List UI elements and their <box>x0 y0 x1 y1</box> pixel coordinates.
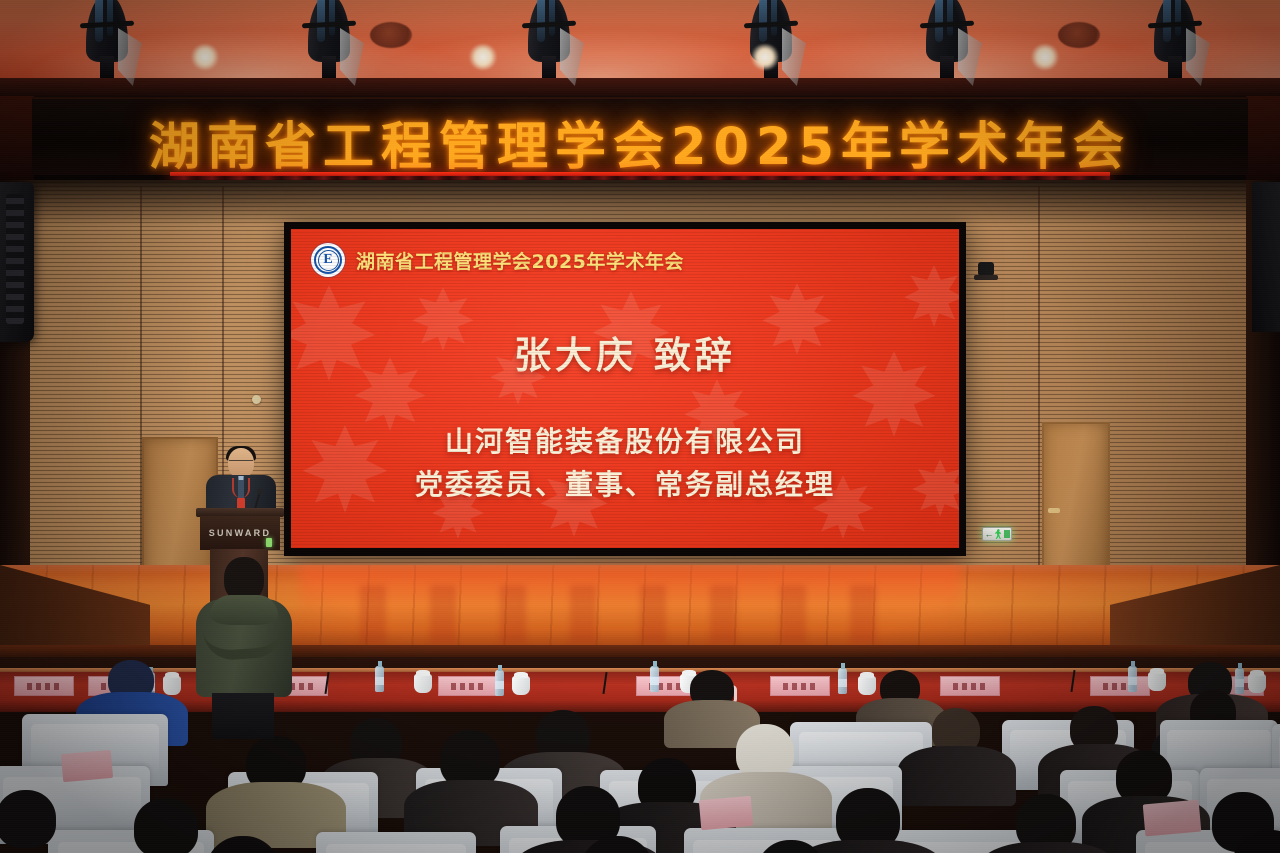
projection-screen-bezel: E 湖南省工程管理学会2025年学术年会 张大庆 致辞 山河智能装备股份有限公司… <box>284 222 966 556</box>
ceiling-spotlight-icon <box>468 44 498 70</box>
presenter-lanyard <box>232 478 250 498</box>
attendee-hood <box>210 595 278 625</box>
audience-shoulders <box>898 746 1016 806</box>
screen-subtitle-line-2: 党委委员、董事、常务副总经理 <box>291 463 959 503</box>
exit-sign-tail <box>1004 530 1010 538</box>
wall-knob-icon <box>252 395 261 404</box>
screen-header: E 湖南省工程管理学会2025年学术年会 <box>311 243 684 277</box>
banner-side-frame-right <box>1246 96 1280 180</box>
stage-light-fixture-icon <box>1146 0 1204 90</box>
exit-sign-icon: ← <box>982 527 1012 541</box>
wall-top-shadow <box>0 180 1280 226</box>
screen-title: 张大庆 致辞 <box>291 325 959 379</box>
led-banner: 湖南省工程管理学会2025年学术年会 <box>32 97 1248 175</box>
door-handle-icon <box>1048 508 1060 513</box>
attendee-legs <box>212 693 274 739</box>
stage-light-reflection <box>360 585 900 643</box>
line-array-speaker-right <box>1252 182 1280 332</box>
ceiling-spotlight-icon <box>750 44 780 70</box>
exit-arrow-icon: ← <box>985 530 994 539</box>
emblem-letter: E <box>323 253 332 267</box>
conference-hall-photo: 湖南省工程管理学会2025年学术年会 ← <box>0 0 1280 853</box>
projection-screen: E 湖南省工程管理学会2025年学术年会 张大庆 致辞 山河智能装备股份有限公司… <box>291 229 959 548</box>
ceiling-vent-icon <box>1058 22 1100 48</box>
wall-camera-icon <box>978 262 994 276</box>
running-man-icon <box>995 529 1003 539</box>
audience-chair[interactable] <box>316 832 476 853</box>
wall-panel-seam <box>1038 186 1040 576</box>
audience-head <box>0 790 56 848</box>
banner-side-frame-left <box>0 96 34 180</box>
ceiling-spotlight-icon <box>190 44 220 70</box>
stage-door-right[interactable] <box>1042 422 1110 580</box>
stage-light-fixture-icon <box>918 0 976 90</box>
presenter-glasses-icon <box>229 460 253 466</box>
audience-area <box>0 640 1280 853</box>
ceiling-spotlight-icon <box>1030 44 1060 70</box>
ceiling-vent-icon <box>370 22 412 48</box>
stage-light-fixture-icon <box>520 0 578 90</box>
screen-watermark-flower <box>903 265 959 327</box>
line-array-speaker-left <box>0 182 34 342</box>
podium-status-led <box>266 538 272 547</box>
pink-handout <box>1143 800 1202 837</box>
pink-handout <box>699 796 753 830</box>
association-emblem-icon: E <box>311 243 345 277</box>
pink-handout <box>61 750 113 782</box>
screen-header-text: 湖南省工程管理学会2025年学术年会 <box>356 247 684 274</box>
podium-brand-label: SUNWARD <box>209 528 272 538</box>
screen-subtitle-line-1: 山河智能装备股份有限公司 <box>291 420 959 460</box>
standing-attendee <box>196 557 292 737</box>
stage-light-fixture-icon <box>78 0 136 90</box>
led-banner-text: 湖南省工程管理学会2025年学术年会 <box>32 105 1248 175</box>
audience-head <box>134 798 198 853</box>
stage-light-fixture-icon <box>300 0 358 90</box>
